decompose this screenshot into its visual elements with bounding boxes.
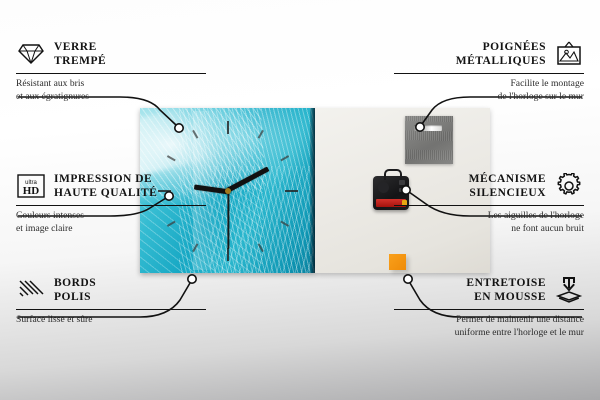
clock-tick [227,121,229,191]
gear-icon [554,173,584,199]
feature-callout-mecanisme: MÉCANISMESILENCIEUX Les aiguilles de l'h… [394,172,584,235]
feature-title: BORDSPOLIS [54,276,96,305]
foam-spacer-icon [554,277,584,303]
feature-title: IMPRESSION DEHAUTE QUALITÉ [54,172,157,201]
clock-second-hand [227,191,228,249]
feature-description: Résistant aux briset aux égratignures [16,78,206,103]
divider [394,205,584,207]
feature-description: Les aiguilles de l'horlogene font aucun … [394,210,584,235]
mechanism-shaft [378,182,389,193]
divider [394,309,584,311]
clock-center-cap [225,188,231,194]
infographic-stage: VERRETREMPÉ Résistant aux briset aux égr… [0,0,600,400]
feature-description: Couleurs intenseset image claire [16,210,206,235]
feature-description: Surface lisse et sûre [16,314,206,326]
metal-hanger-plate [405,116,453,164]
divider [16,205,206,207]
feature-title: POIGNÉESMÉTALLIQUES [456,40,546,69]
polished-edge-icon [16,277,46,303]
divider [16,309,206,311]
feature-description: Facilite le montagede l'horloge sur le m… [394,78,584,103]
clock-tick [228,190,298,192]
divider [394,73,584,75]
feature-title: VERRETREMPÉ [54,40,106,69]
hanger-slot [414,125,442,131]
feature-title: MÉCANISMESILENCIEUX [469,172,546,201]
feature-title: ENTRETOISEEN MOUSSE [466,276,546,305]
feature-callout-entretoise: ENTRETOISEEN MOUSSE Permet de maintenir … [394,276,584,339]
feature-callout-impression: ultra HD IMPRESSION DEHAUTE QUALITÉ Coul… [16,172,206,235]
divider [16,73,206,75]
diamond-icon [16,41,46,67]
hanging-frame-icon [554,41,584,67]
feature-callout-bords-polis: BORDSPOLIS Surface lisse et sûre [16,276,206,327]
ultra-hd-icon: ultra HD [16,173,46,199]
svg-text:HD: HD [23,185,40,197]
feature-callout-poignees: POIGNÉESMÉTALLIQUES Facilite le montaged… [394,40,584,103]
feature-description: Permet de maintenir une distanceuniforme… [394,314,584,339]
feature-callout-verre-trempe: VERRETREMPÉ Résistant aux briset aux égr… [16,40,206,103]
foam-spacer [389,254,406,270]
